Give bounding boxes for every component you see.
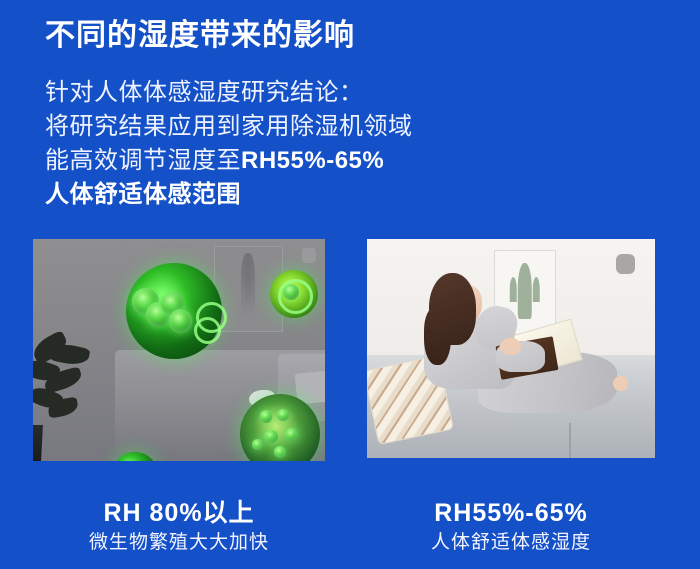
hand [500,338,520,355]
intro-line-3: 能高效调节湿度至RH55%-65% [45,144,413,178]
intro-line-1: 针对人体体感湿度研究结论： [45,76,413,110]
photo-high-humidity [33,239,325,461]
germ-cluster-bottom [112,452,158,461]
woman-reading [402,270,627,441]
dim-room-scene [33,239,325,461]
wall-knob-icon [302,248,316,263]
foot [613,376,629,391]
photo-comfort-humidity [367,239,655,458]
humidity-range-highlight: RH55%-65% [241,147,384,174]
bright-room-scene [367,239,655,458]
humidity-comparison-poster: 不同的湿度带来的影响 针对人体体感湿度研究结论： 将研究结果应用到家用除湿机领域… [0,0,700,569]
intro-line-3-prefix: 能高效调节湿度至 [45,147,241,174]
intro-line-4: 人体舒适体感范围 [45,178,413,212]
plant-pot [33,425,43,461]
caption-high-humidity: RH 80%以上 微生物繁殖大大加快 [33,498,325,557]
germ-cluster-small [270,270,318,318]
page-title: 不同的湿度带来的影响 [45,16,355,56]
caption-right-title: RH55%-65% [367,498,655,529]
intro-paragraph: 针对人体体感湿度研究结论： 将研究结果应用到家用除湿机领域 能高效调节湿度至RH… [45,76,413,212]
caption-left-title: RH 80%以上 [33,498,325,529]
caption-right-subtitle: 人体舒适体感湿度 [367,529,655,557]
caption-left-subtitle: 微生物繁殖大大加快 [33,529,325,557]
caption-comfort-humidity: RH55%-65% 人体舒适体感湿度 [367,498,655,557]
intro-line-2: 将研究结果应用到家用除湿机领域 [45,110,413,144]
potted-plant [33,332,103,461]
hair [429,273,476,345]
